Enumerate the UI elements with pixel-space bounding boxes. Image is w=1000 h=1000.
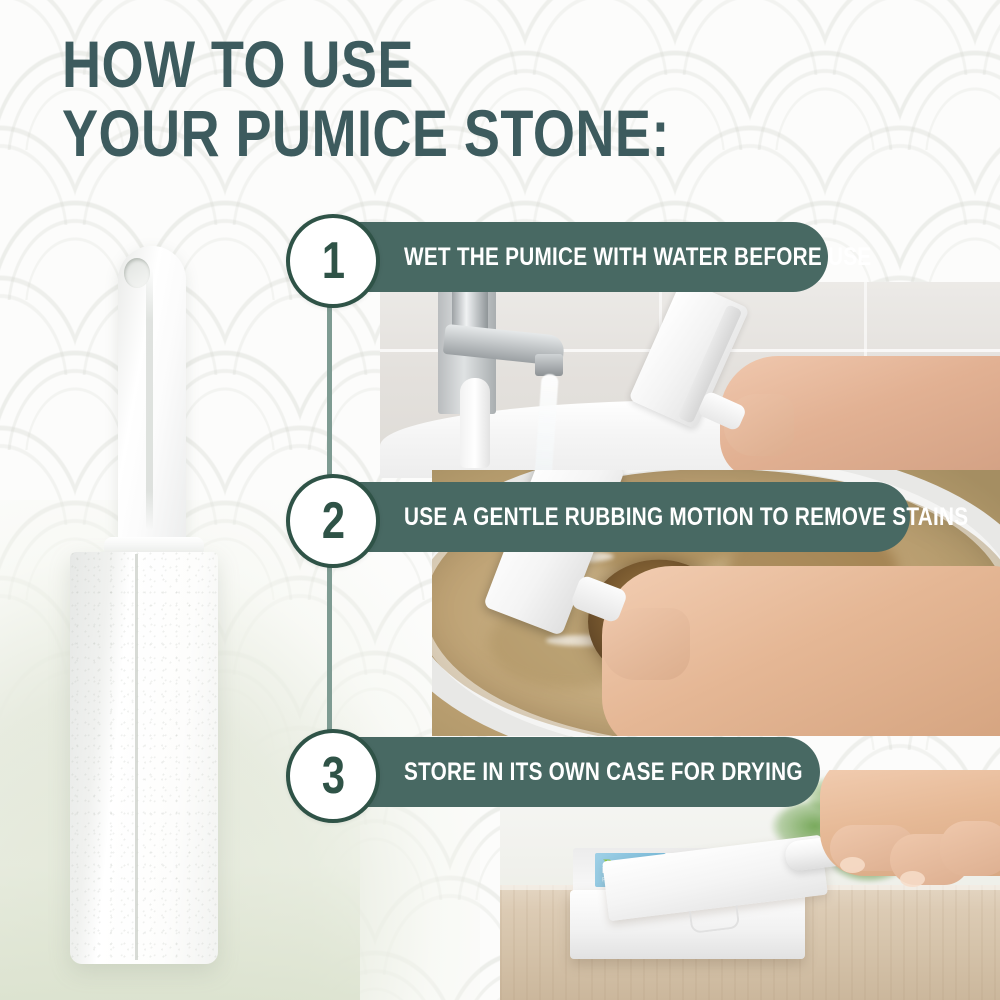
step-3-number: 3	[321, 750, 344, 802]
step-3-label: STORE IN ITS OWN CASE FOR DRYING	[404, 758, 803, 787]
title-line-1: HOW TO USE	[62, 34, 570, 95]
page-title: HOW TO USE YOUR PUMICE STONE:	[62, 34, 682, 163]
step-3-label-bar: STORE IN ITS OWN CASE FOR DRYING	[330, 737, 820, 807]
step-2-badge: 2	[286, 474, 380, 568]
title-line-2: YOUR PUMICE STONE:	[62, 103, 570, 164]
faucet-white-handle	[460, 378, 490, 468]
infographic-canvas: P POWERHOUSE PUMICE For best results fre…	[0, 0, 1000, 1000]
product-pumice-edge	[135, 554, 138, 960]
product-handle-ridge	[146, 268, 153, 530]
step-1-number: 1	[321, 235, 344, 287]
step-2-number: 2	[321, 495, 344, 547]
step-3-badge: 3	[286, 729, 380, 823]
step-1-label-bar: WET THE PUMICE WITH WATER BEFORE USE	[330, 222, 828, 292]
step-1-badge: 1	[286, 214, 380, 308]
step-1-label: WET THE PUMICE WITH WATER BEFORE USE	[404, 243, 871, 272]
finger	[940, 821, 1000, 876]
product-pumice-texture	[70, 552, 218, 964]
product-hanging-hole	[124, 258, 150, 288]
faucet-aerator	[535, 354, 563, 376]
step-2-label: USE A GENTLE RUBBING MOTION TO REMOVE ST…	[404, 503, 968, 532]
photo-faucet-running-water	[380, 282, 1000, 478]
step-2-label-bar: USE A GENTLE RUBBING MOTION TO REMOVE ST…	[330, 482, 910, 552]
